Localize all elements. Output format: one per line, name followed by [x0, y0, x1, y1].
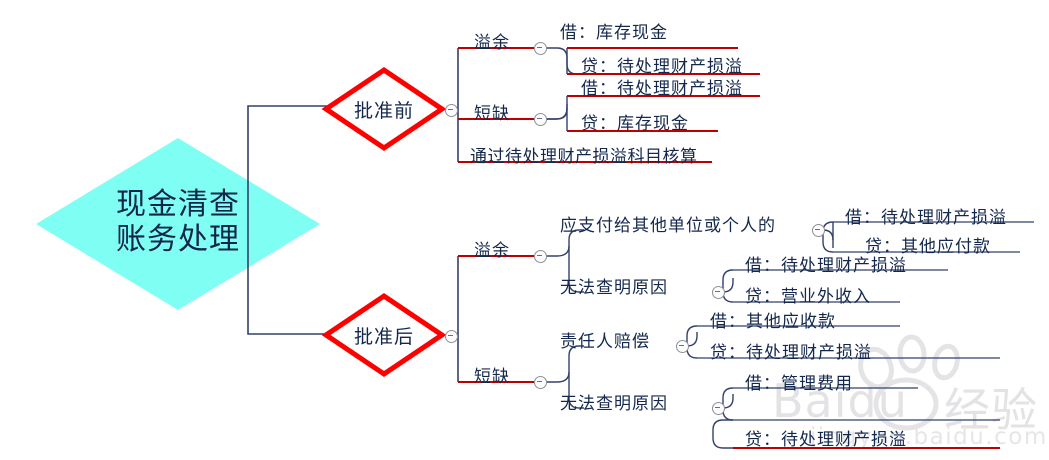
- root-label-line2: 账务处理: [116, 223, 240, 258]
- after-child-shortage[interactable]: 短缺: [474, 362, 510, 387]
- after-child-surplus[interactable]: 溢余: [474, 236, 510, 261]
- after-surplus-unknown-credit[interactable]: 贷：营业外收入: [745, 282, 871, 307]
- toggle-before-shortage[interactable]: [534, 113, 547, 126]
- toggle-after-shortage-unknown[interactable]: [712, 402, 725, 415]
- branch-node-before[interactable]: 批准前: [326, 70, 442, 148]
- branch-node-after[interactable]: 批准后: [326, 296, 442, 374]
- after-shortage-sub-unknown[interactable]: 无法查明原因: [560, 389, 668, 414]
- after-shortage-sub-liable[interactable]: 责任人赔偿: [560, 327, 650, 352]
- toggle-after-surplus-payable[interactable]: [812, 224, 825, 237]
- after-surplus-sub-unknown[interactable]: 无法查明原因: [560, 273, 668, 298]
- after-shortage-unknown-credit[interactable]: 贷：待处理财产损溢: [745, 425, 907, 450]
- after-surplus-payable-debit[interactable]: 借：待处理财产损溢: [845, 203, 1007, 228]
- after-surplus-unknown-debit[interactable]: 借：待处理财产损溢: [745, 251, 907, 276]
- before-surplus-entry-debit[interactable]: 借：库存现金: [560, 18, 668, 43]
- toggle-before[interactable]: [445, 104, 458, 117]
- toggle-after-surplus-unknown[interactable]: [712, 286, 725, 299]
- before-child-shortage[interactable]: 短缺: [474, 99, 510, 124]
- before-child-account-note[interactable]: 通过待处理财产损溢科目核算: [470, 142, 698, 167]
- toggle-after-shortage-liable[interactable]: [676, 340, 689, 353]
- root-node[interactable]: 现金清查 账务处理: [36, 138, 320, 310]
- toggle-after[interactable]: [445, 330, 458, 343]
- after-surplus-sub-payable[interactable]: 应支付给其他单位或个人的: [560, 211, 776, 236]
- after-shortage-unknown-debit[interactable]: 借：管理费用: [745, 369, 853, 394]
- branch-before-label: 批准前: [354, 96, 414, 123]
- toggle-after-surplus[interactable]: [534, 250, 547, 263]
- after-shortage-liable-debit[interactable]: 借：其他应收款: [710, 307, 836, 332]
- toggle-before-surplus[interactable]: [534, 42, 547, 55]
- before-child-surplus[interactable]: 溢余: [474, 28, 510, 53]
- branch-after-label: 批准后: [354, 322, 414, 349]
- toggle-after-shortage[interactable]: [534, 376, 547, 389]
- before-shortage-entry-credit[interactable]: 贷：库存现金: [581, 109, 689, 134]
- root-label-line1: 现金清查: [116, 188, 240, 223]
- mindmap-canvas: Baidu 经验 jingyan.baidu.com: [0, 0, 1049, 460]
- after-shortage-liable-credit[interactable]: 贷：待处理财产损溢: [710, 338, 872, 363]
- before-shortage-entry-debit[interactable]: 借：待处理财产损溢: [581, 74, 743, 99]
